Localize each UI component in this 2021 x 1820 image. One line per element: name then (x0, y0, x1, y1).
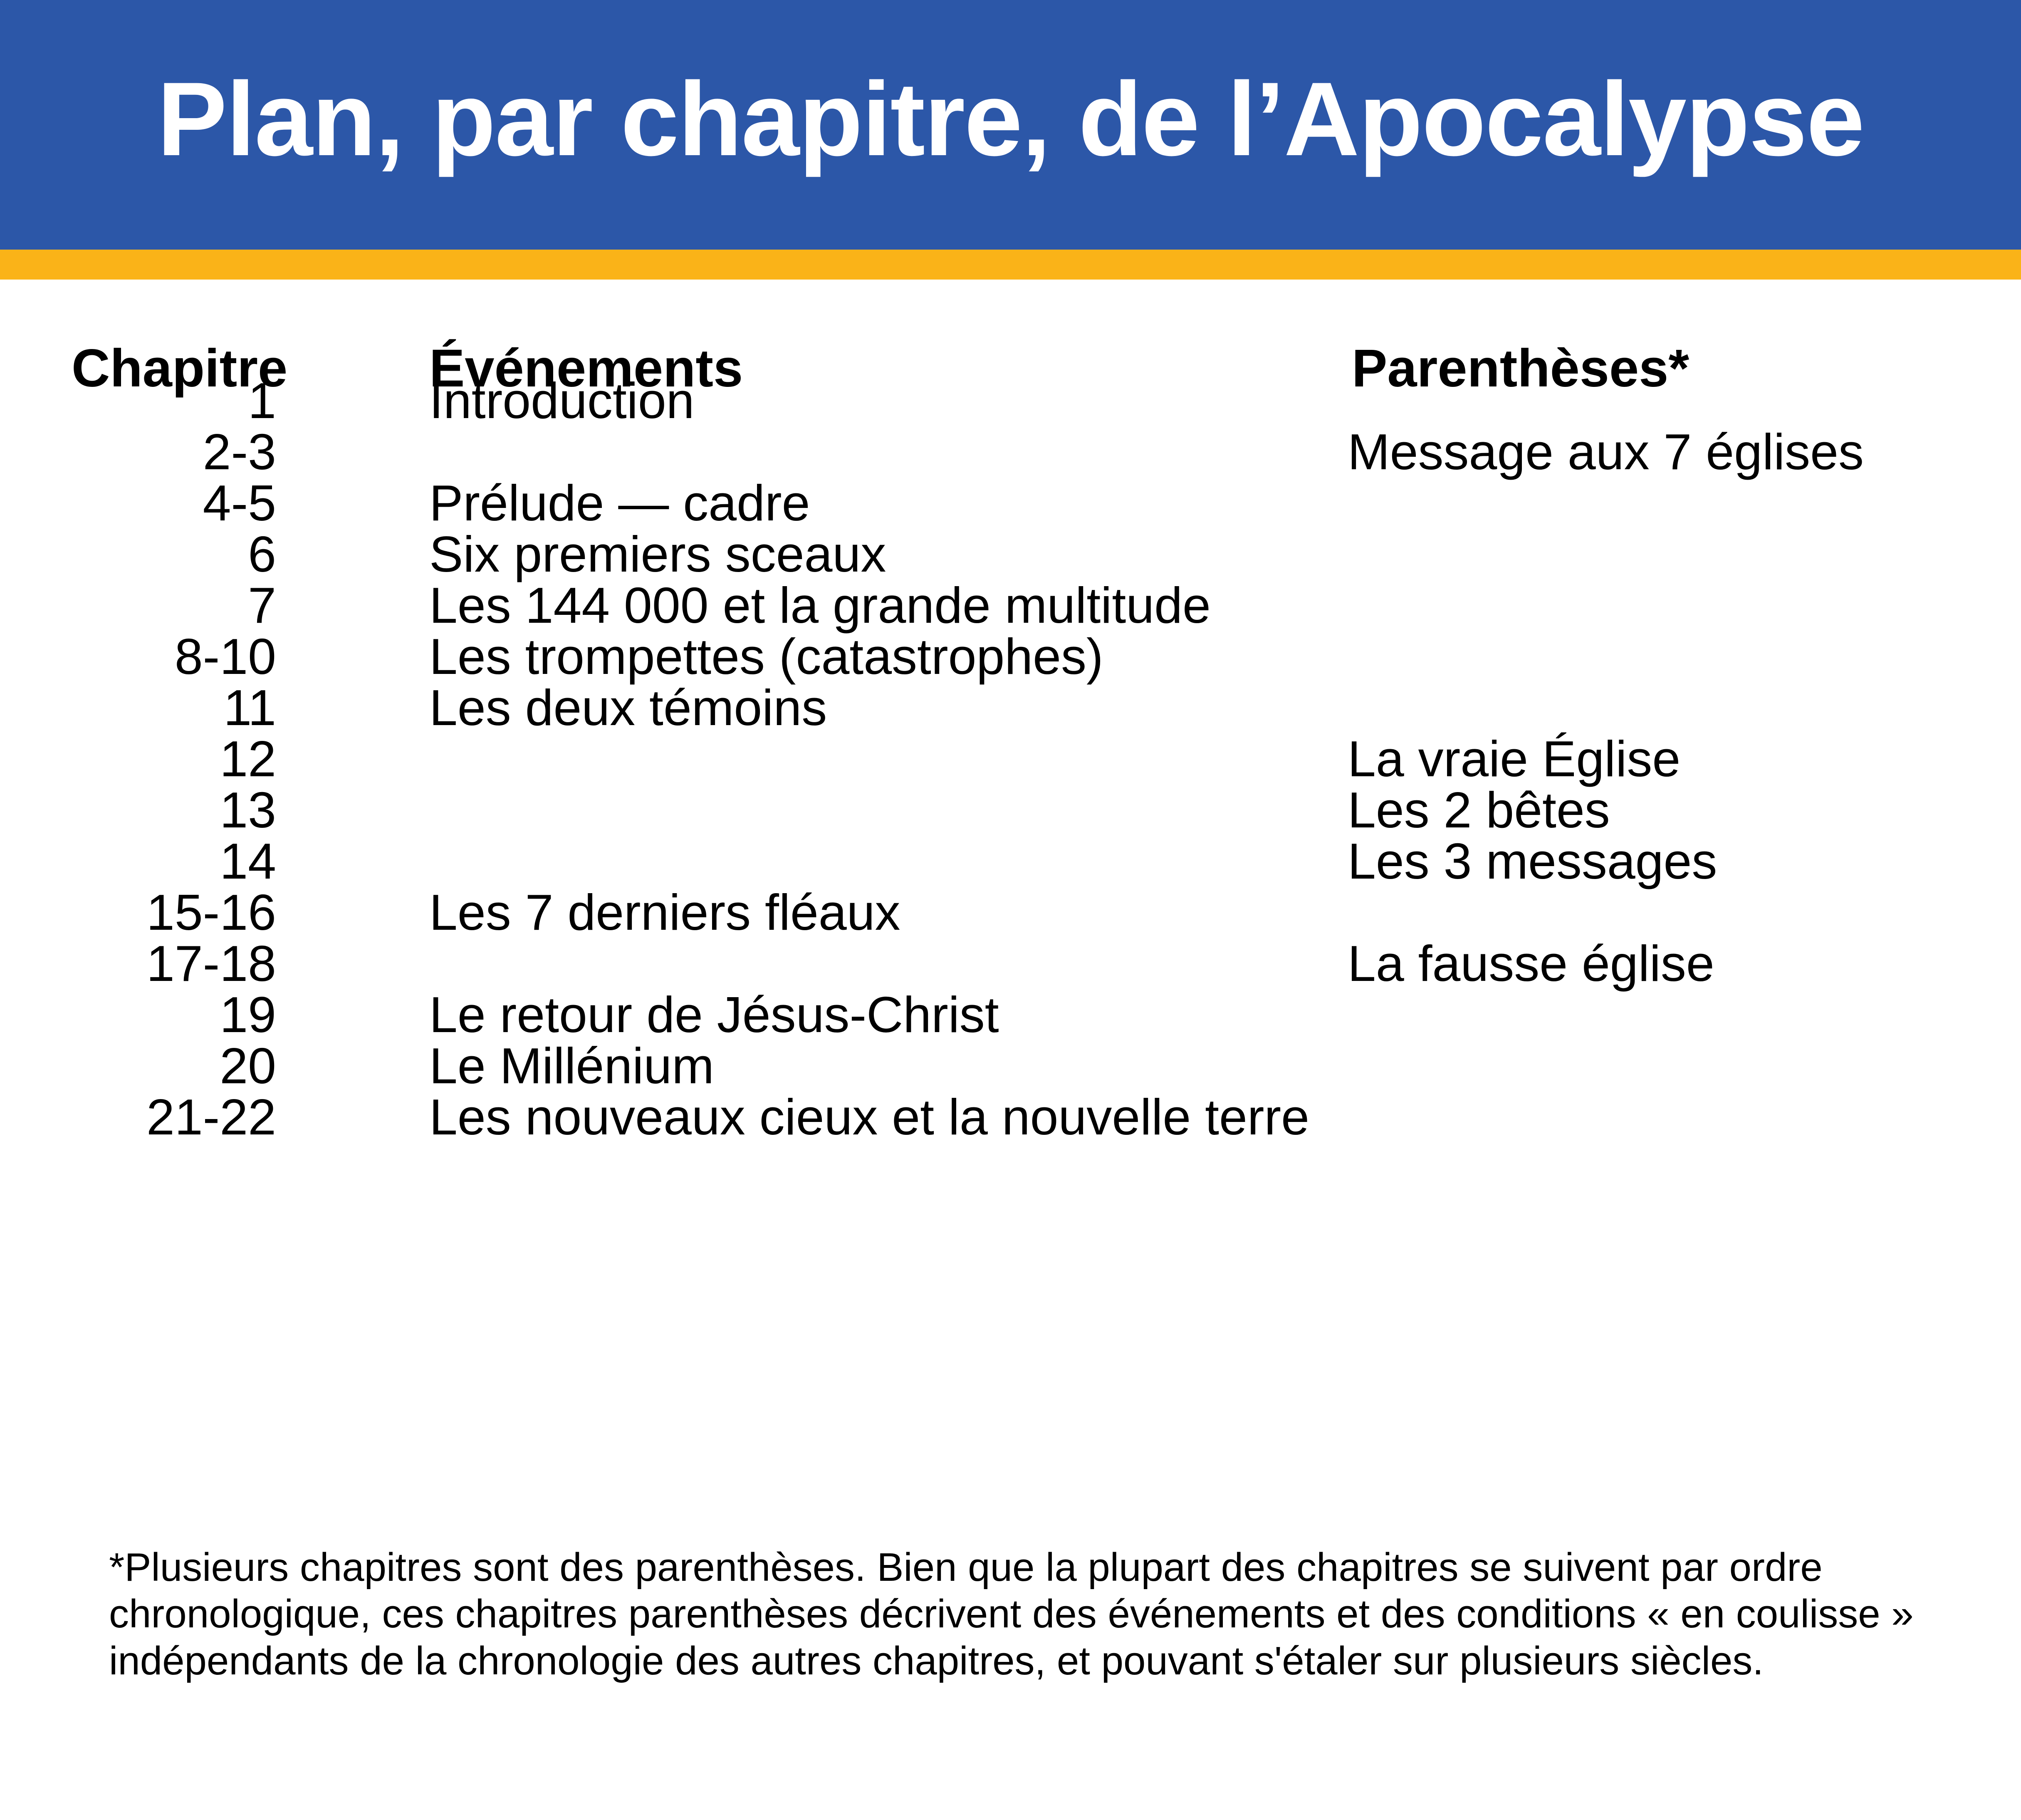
table-row: 20Le Millénium (0, 1040, 2021, 1092)
table-row: 11Les deux témoins (0, 682, 2021, 733)
page-title: Plan, par chapitre, de l’Apocalypse (157, 67, 1864, 172)
cell-parenthese: La fausse église (1348, 938, 1714, 989)
cell-chapter: 1 (0, 375, 276, 426)
cell-evenement: Prélude — cadre (429, 478, 810, 528)
cell-chapter: 6 (0, 529, 276, 579)
cell-parenthese: La vraie Église (1348, 733, 1680, 784)
table-row: 1Introduction (0, 375, 2021, 426)
cell-evenement: Les nouveaux cieux et la nouvelle terre (429, 1092, 1309, 1142)
table-body: 1Introduction2-3Message aux 7 églises4-5… (0, 375, 2021, 1143)
cell-parenthese: Les 2 bêtes (1348, 785, 1610, 835)
table-row: 12La vraie Église (0, 733, 2021, 785)
footnote-line: *Plusieurs chapitres sont des parenthèse… (109, 1544, 1931, 1591)
cell-chapter: 15-16 (0, 887, 276, 938)
table-row: 13Les 2 bêtes (0, 785, 2021, 836)
cell-parenthese: Les 3 messages (1348, 836, 1717, 886)
cell-evenement: Les 144 000 et la grande multitude (429, 580, 1211, 631)
cell-evenement: Six premiers sceaux (429, 529, 886, 579)
cell-evenement: Le Millénium (429, 1040, 714, 1091)
table-row: 14Les 3 messages (0, 836, 2021, 887)
cell-chapter: 7 (0, 580, 276, 631)
cell-chapter: 20 (0, 1040, 276, 1091)
cell-evenement: Le retour de Jésus-Christ (429, 989, 999, 1040)
table-row: 21-22Les nouveaux cieux et la nouvelle t… (0, 1092, 2021, 1143)
table-row: 2-3Message aux 7 églises (0, 426, 2021, 478)
cell-evenement: Introduction (429, 375, 695, 426)
cell-evenement: Les deux témoins (429, 682, 827, 733)
cell-evenement: Les trompettes (catastrophes) (429, 631, 1103, 682)
cell-evenement: Les 7 derniers fléaux (429, 887, 900, 938)
cell-chapter: 13 (0, 785, 276, 835)
title-banner: Plan, par chapitre, de l’Apocalypse (0, 0, 2021, 250)
table-row: 15-16Les 7 derniers fléaux (0, 887, 2021, 938)
table-row: 7Les 144 000 et la grande multitude (0, 580, 2021, 631)
cell-chapter: 12 (0, 733, 276, 784)
cell-parenthese: Message aux 7 églises (1348, 426, 1864, 477)
footnote-line: indépendants de la chronologie des autre… (109, 1638, 1931, 1684)
footnote-line: chronologique, ces chapitres parenthèses… (109, 1591, 1931, 1637)
table-header-row: Chapitre Événements Parenthèses* (0, 280, 2021, 375)
accent-bar-divider (0, 250, 2021, 280)
cell-chapter: 14 (0, 836, 276, 886)
table-row: 4-5Prélude — cadre (0, 478, 2021, 529)
cell-chapter: 19 (0, 989, 276, 1040)
cell-chapter: 17-18 (0, 938, 276, 989)
cell-chapter: 11 (0, 682, 276, 733)
cell-chapter: 21-22 (0, 1092, 276, 1142)
cell-chapter: 8-10 (0, 631, 276, 682)
table-row: 6Six premiers sceaux (0, 529, 2021, 580)
footnote-block: *Plusieurs chapitres sont des parenthèse… (109, 1544, 1931, 1684)
table-row: 19Le retour de Jésus-Christ (0, 989, 2021, 1040)
revelation-outline-table: Chapitre Événements Parenthèses* 1Introd… (0, 280, 2021, 1143)
cell-chapter: 4-5 (0, 478, 276, 528)
cell-chapter: 2-3 (0, 426, 276, 477)
table-row: 17-18La fausse église (0, 938, 2021, 989)
table-row: 8-10Les trompettes (catastrophes) (0, 631, 2021, 682)
